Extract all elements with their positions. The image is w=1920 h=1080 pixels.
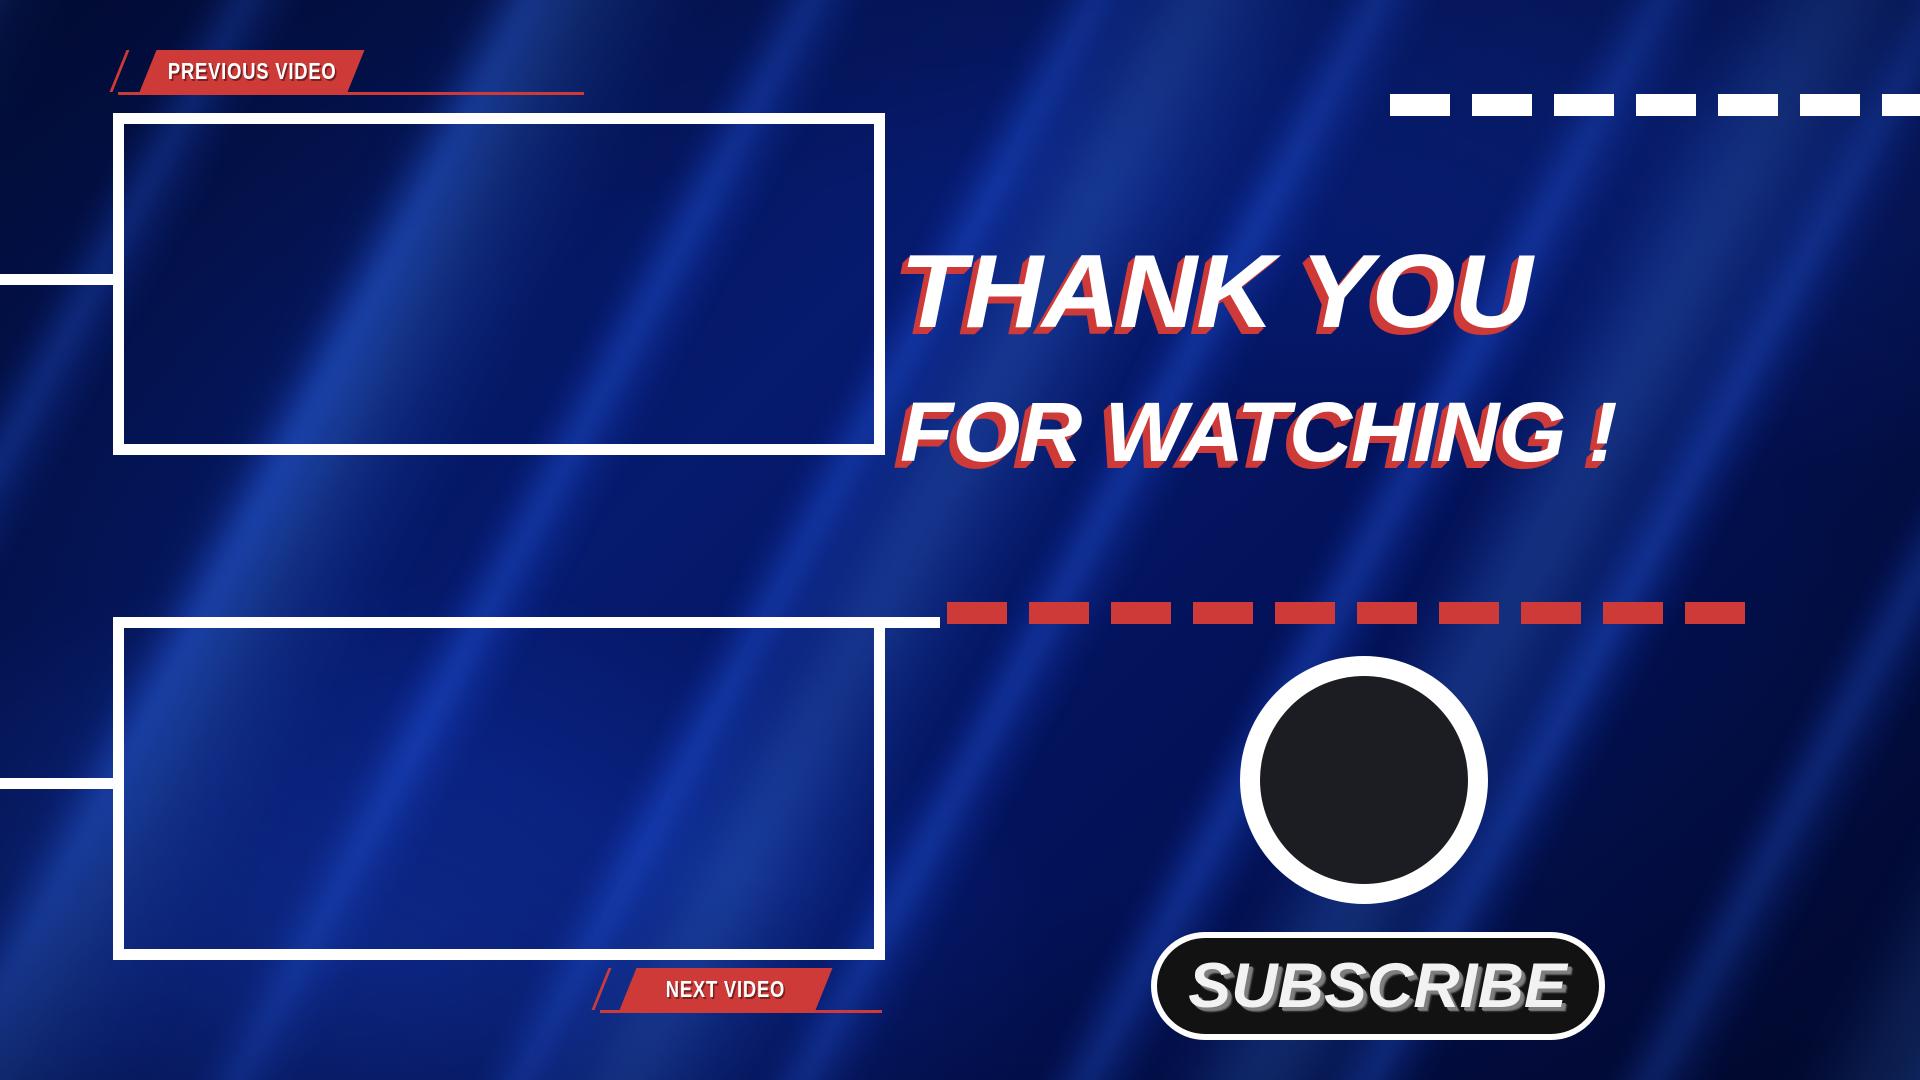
channel-avatar-image <box>1260 676 1468 884</box>
next-tag-underline-accent <box>600 1010 882 1013</box>
connector-stub-left-bottom <box>0 778 118 789</box>
dash-white-2 <box>1554 94 1614 116</box>
dashed-line-red-middle <box>947 602 1745 624</box>
next-video-placeholder[interactable] <box>113 617 885 960</box>
dash-red-0 <box>947 602 1007 624</box>
dash-red-6 <box>1439 602 1499 624</box>
connector-stub-left-top <box>0 274 118 285</box>
dash-white-3 <box>1636 94 1696 116</box>
dash-red-3 <box>1193 602 1253 624</box>
dash-red-2 <box>1111 602 1171 624</box>
dash-red-4 <box>1275 602 1335 624</box>
previous-video-tag[interactable]: PREVIOUS VIDEO <box>140 50 365 92</box>
dash-red-5 <box>1357 602 1417 624</box>
dash-white-0 <box>1390 94 1450 116</box>
dash-white-4 <box>1718 94 1778 116</box>
subscribe-button[interactable]: SUBSCRIBE <box>1151 932 1605 1040</box>
headline-line-1: THANK YOU <box>900 240 1920 344</box>
next-video-tag-label: NEXT VIDEO <box>666 976 785 1003</box>
dash-white-6 <box>1882 94 1920 116</box>
headline-block: THANK YOU FOR WATCHING ! <box>900 240 1900 474</box>
headline-line-2: FOR WATCHING ! <box>900 390 1920 474</box>
dash-red-8 <box>1603 602 1663 624</box>
dash-red-9 <box>1685 602 1745 624</box>
channel-avatar[interactable] <box>1240 656 1488 904</box>
previous-video-placeholder[interactable] <box>113 113 885 455</box>
previous-video-tag-label: PREVIOUS VIDEO <box>168 58 337 85</box>
next-video-tag[interactable]: NEXT VIDEO <box>620 968 833 1010</box>
dash-white-5 <box>1800 94 1860 116</box>
dash-red-7 <box>1521 602 1581 624</box>
dash-red-1 <box>1029 602 1089 624</box>
end-screen-canvas: PREVIOUS VIDEO NEXT VIDEO THANK YOU FOR … <box>0 0 1920 1080</box>
dashed-line-white-top <box>1390 94 1920 116</box>
previous-tag-underline-accent <box>118 92 584 95</box>
subscribe-button-label: SUBSCRIBE <box>1189 950 1567 1022</box>
dash-white-1 <box>1472 94 1532 116</box>
